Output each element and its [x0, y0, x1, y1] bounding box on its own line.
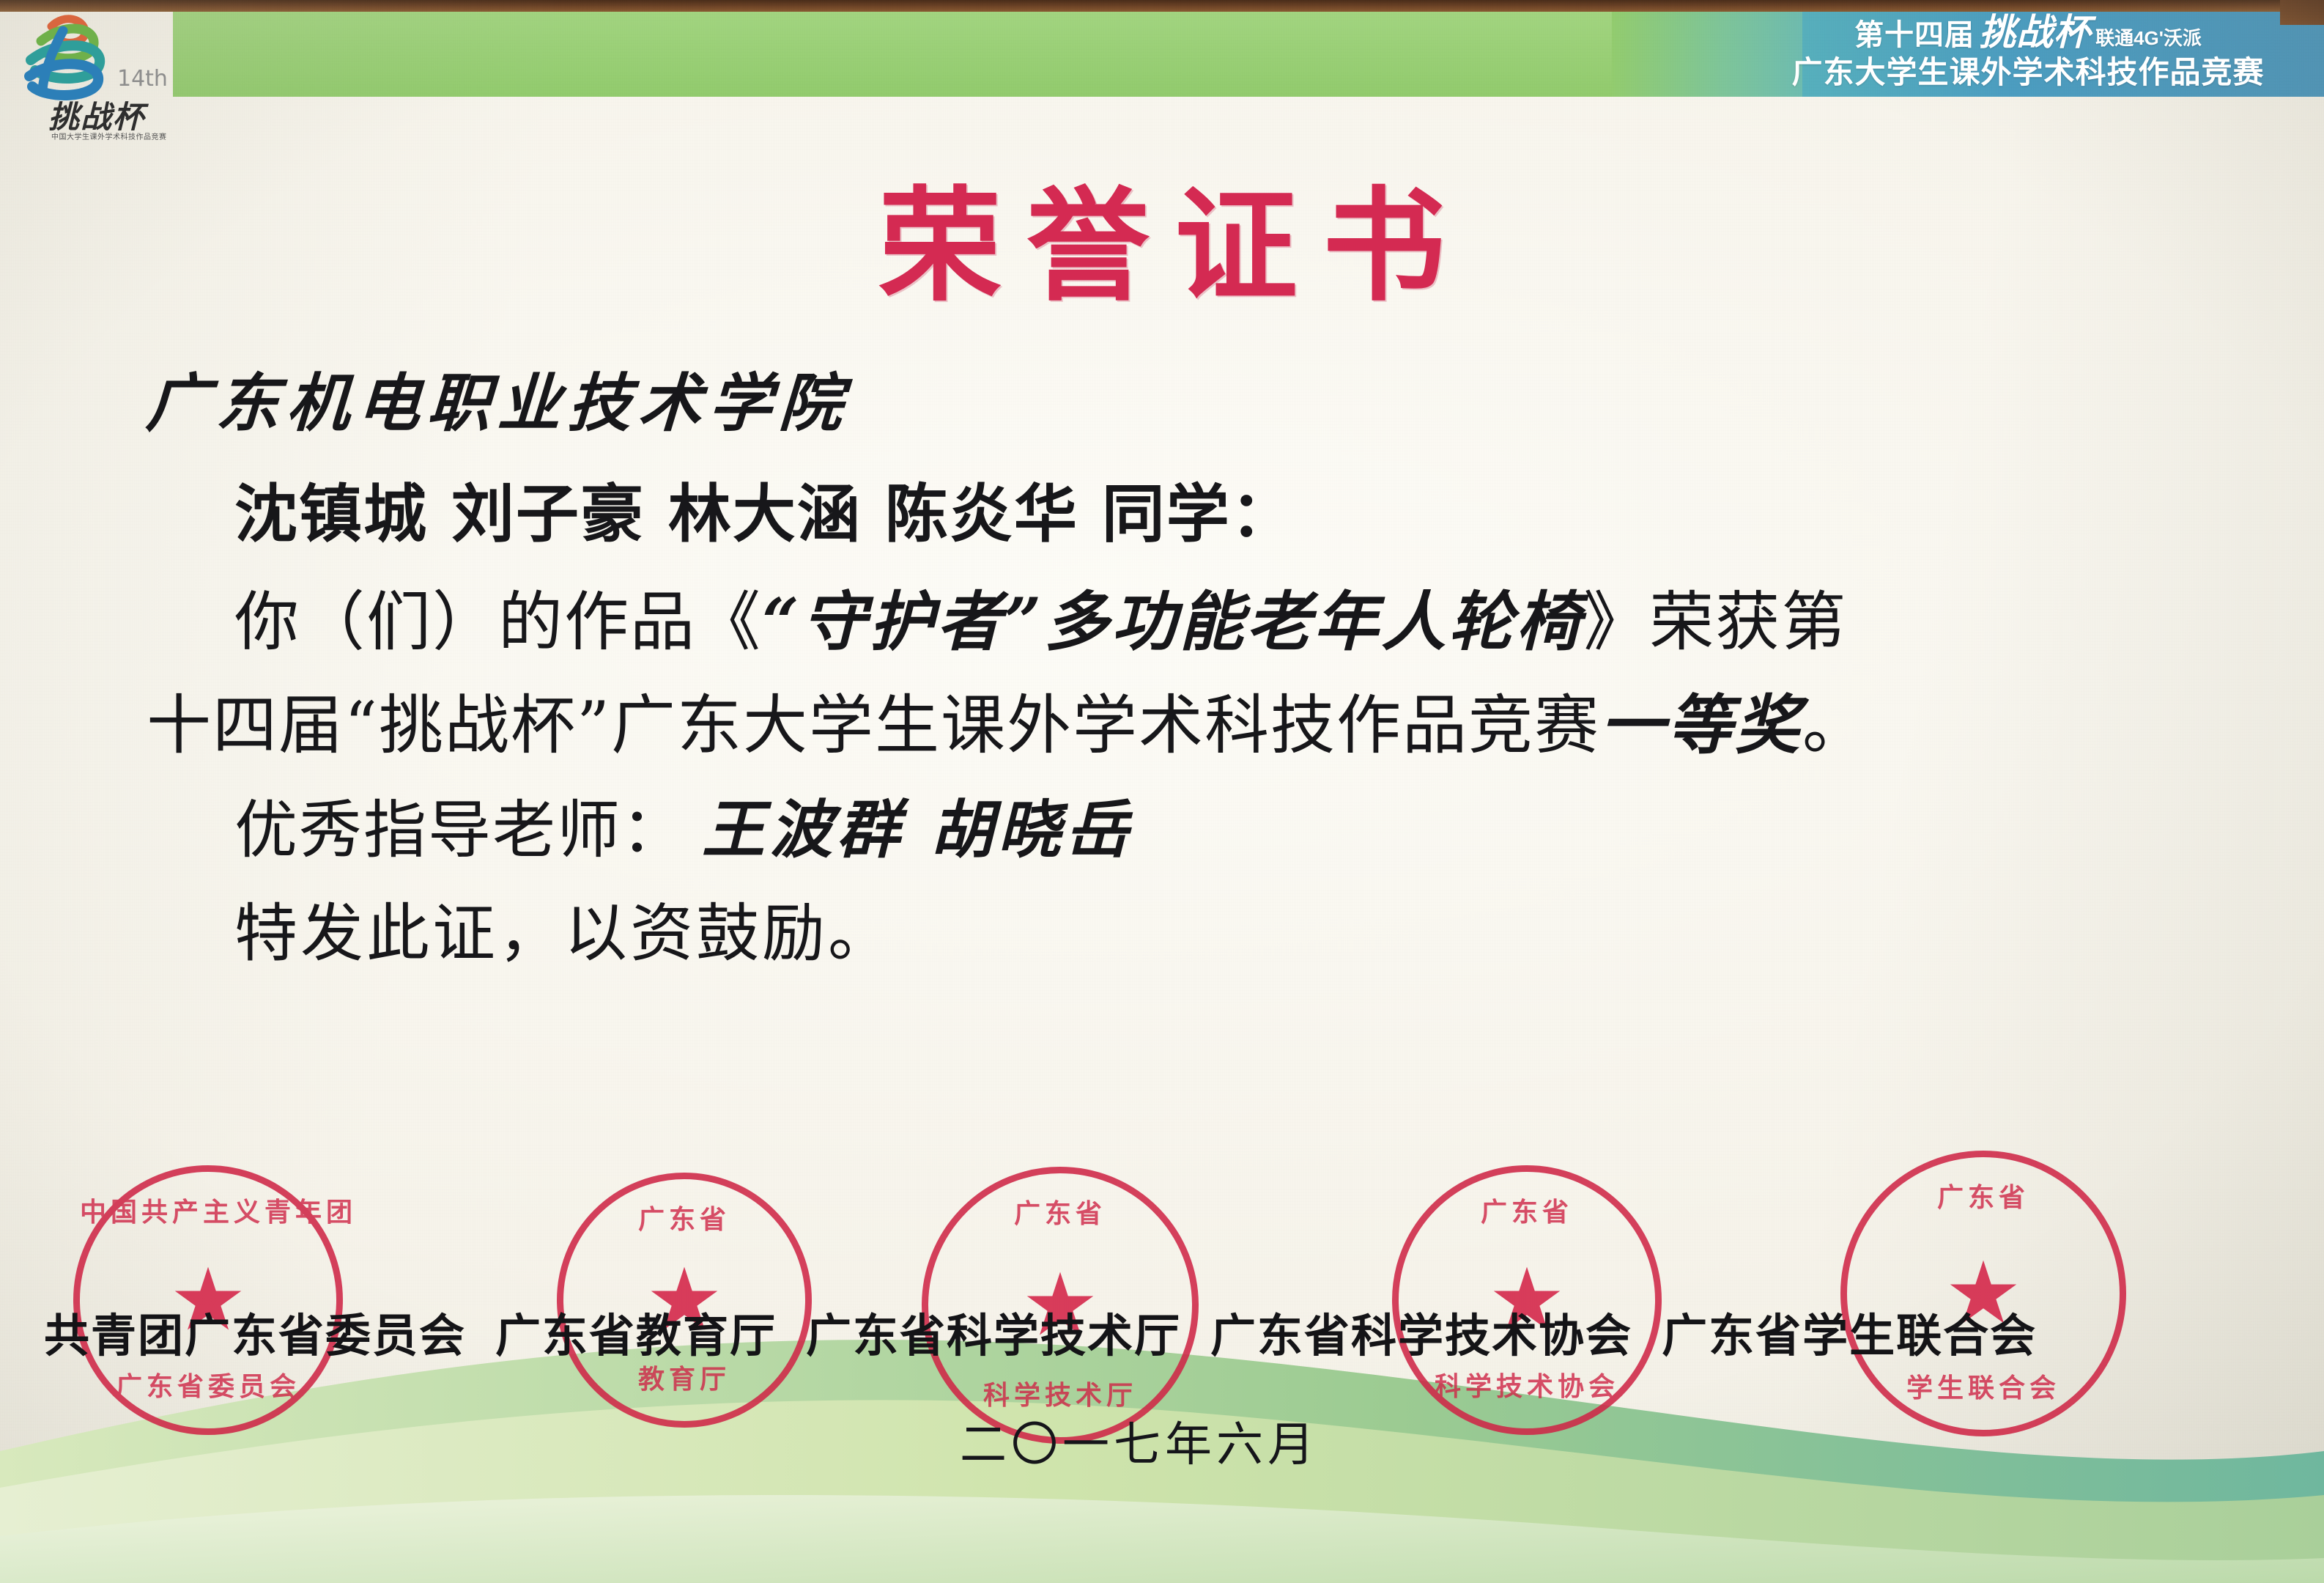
- logo-tagline: 中国大学生课外学术科技作品竞赛: [51, 130, 167, 141]
- certificate-page: 第十四届挑战杯联通4G'沃派 广东大学生课外学术科技作品竞赛 14th 挑战杯 …: [0, 0, 2324, 1583]
- work-statement-period: 。: [1802, 687, 1868, 763]
- work-title: “守护者”多功能老年人轮椅: [762, 583, 1583, 660]
- challenge-cup-logo: 14th 挑战杯 中国大学生课外学术科技作品竞赛: [13, 6, 174, 145]
- seal-arc-top: 广东省: [1847, 1176, 2120, 1214]
- seal-arc-bottom: 学生联合会: [1847, 1367, 2120, 1405]
- competition-name: 十四届“挑战杯”广东大学生课外学术科技作品竞赛: [147, 687, 1600, 763]
- recipient-students: 沈镇城 刘子豪 林大涵 陈炎华 同学：: [234, 462, 2220, 554]
- issuer-name: 广东省教育厅: [495, 1299, 777, 1365]
- work-statement-line-1: 你（们）的作品《“守护者”多功能老年人轮椅》荣获第: [234, 570, 2220, 663]
- page-title: 荣誉证书: [0, 147, 2324, 325]
- issuer-name: 共青团广东省委员会: [44, 1299, 466, 1365]
- award-level: 一等奖: [1600, 687, 1802, 763]
- seal-arc-bottom: 广东省委员会: [80, 1365, 336, 1403]
- event-banner: 第十四届挑战杯联通4G'沃派 广东大学生课外学术科技作品竞赛: [1757, 13, 2299, 94]
- logo-edition-text: 14th: [117, 66, 168, 92]
- work-statement-prefix: 你（们）的作品《: [234, 584, 762, 660]
- banner-brush-title: 挑战杯: [1975, 10, 2095, 53]
- work-statement-line-2: 十四届“挑战杯”广东大学生课外学术科技作品竞赛一等奖。: [147, 674, 2220, 767]
- issuer-name: 广东省科学技术厅: [806, 1299, 1181, 1365]
- banner-sponsor: 联通4G'沃派: [2095, 27, 2202, 49]
- seal-arc-top: 广东省: [928, 1192, 1192, 1230]
- seal-arc-top: 中国共产主义青年团: [80, 1191, 336, 1229]
- seal-arc-top: 广东省: [1399, 1191, 1655, 1229]
- work-statement-suffix: 》荣获第: [1583, 584, 1847, 660]
- advisor-line: 优秀指导老师：王波群 胡晓岳: [234, 778, 2220, 870]
- closing-statement: 特发此证，以资鼓励。: [234, 882, 2220, 973]
- issuer-name: 广东省科学技术协会: [1210, 1299, 1632, 1365]
- seal-student-federation: 广东省 ★ 学生联合会: [1840, 1151, 2126, 1436]
- issuer-names-row: 共青团广东省委员会 广东省教育厅 广东省科学技术厅 广东省科学技术协会 广东省学…: [44, 1299, 2257, 1365]
- advisor-names: 王波群 胡晓岳: [686, 793, 1133, 867]
- banner-subtitle: 广东大学生课外学术科技作品竞赛: [1757, 56, 2299, 89]
- seal-arc-bottom: 科学技术协会: [1399, 1365, 1655, 1403]
- seal-arc-top: 广东省: [563, 1198, 805, 1236]
- issue-date: 二〇一七年六月: [960, 1407, 1319, 1475]
- banner-edition: 第十四届: [1854, 19, 1975, 51]
- issuer-name: 广东省学生联合会: [1662, 1299, 2037, 1365]
- recipient-school: 广东机电职业技术学院: [144, 352, 2223, 443]
- certificate-body: 广东机电职业技术学院 沈镇城 刘子豪 林大涵 陈炎华 同学： 你（们）的作品《“…: [147, 352, 2220, 973]
- advisor-label: 优秀指导老师：: [234, 794, 686, 867]
